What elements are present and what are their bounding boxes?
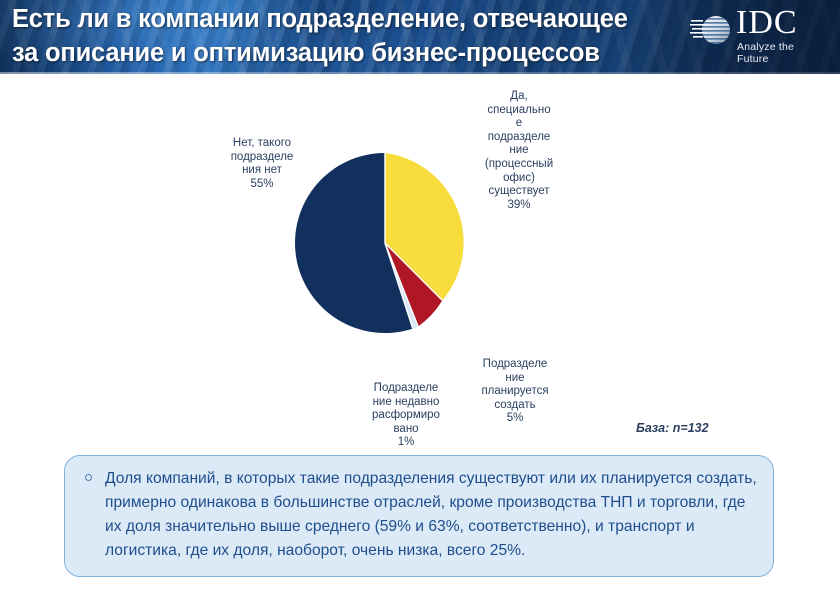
insight-callout-box: Доля компаний, в которых такие подраздел… [64,455,774,577]
circle-bullet-icon [85,474,92,481]
callout-list-item: Доля компаний, в которых такие подраздел… [105,467,757,563]
idc-tagline: Analyze the Future [737,41,826,65]
idc-logo: IDC Analyze the Future [690,5,826,59]
pie-chart-figure: Нет, такого подразделе ния нет 55% Да, с… [0,74,840,449]
chart-base-note: База: n=132 [636,421,709,435]
pie-label-yes: Да, специально е подразделе ние (процесс… [460,90,578,212]
callout-list: Доля компаний, в которых такие подраздел… [65,456,773,563]
idc-wordmark: IDC [736,3,798,43]
callout-text: Доля компаний, в которых такие подраздел… [105,470,757,559]
globe-icon [690,9,732,51]
pie-label-disbanded: Подразделе ние недавно расформиро вано 1… [348,382,464,450]
slide-root: Есть ли в компании подразделение, отвеча… [0,0,840,589]
slide-title: Есть ли в компании подразделение, отвеча… [12,2,702,70]
slide-header: Есть ли в компании подразделение, отвеча… [0,0,840,74]
pie-label-none: Нет, такого подразделе ния нет 55% [196,137,328,191]
pie-label-planned: Подразделе ние планируется создать 5% [455,358,575,426]
